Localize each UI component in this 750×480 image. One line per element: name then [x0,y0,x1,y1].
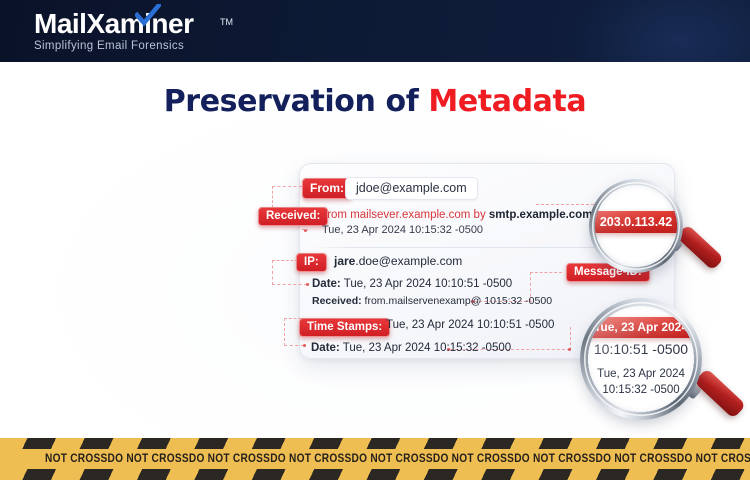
connector-timestamps-date [284,345,304,346]
tape-segment: NOT CROSS [45,453,108,465]
value-date-1: Tue, 23 Apr 2024 10:10:51 -0500 [344,278,512,290]
tag-received[interactable]: Received: [258,207,328,226]
connector-from-horizontal [272,186,302,187]
tag-time-stamps[interactable]: Time Stamps: [299,318,390,337]
tape-segment: DO NOT CROSS [352,453,433,465]
connector-ip-horizontal [272,260,298,261]
value-received-date: Tue, 23 Apr 2024 10:15:32 -0500 [322,224,483,236]
value-ip-email: jare.doe@example.com [334,254,462,268]
tape-text-row: NOT CROSSDO NOT CROSSDO NOT CROSSDO NOT … [45,438,705,480]
magnifier-ip-handle [676,224,724,271]
logo-trademark: TM [220,7,233,37]
tape-segment: DO NOT CROSS [189,453,270,465]
page-title-part1: Preservation of [164,84,429,119]
tape-segment: DO NOT CROSS [514,453,595,465]
brand-header: MailXaminer TM Simplifying Email Forensi… [0,0,750,62]
logo-text-mail: Mail [34,8,86,39]
tag-ip[interactable]: IP: [296,253,327,272]
connector-msgid-horizontal [530,272,562,273]
connector-timestamps-vertical [284,318,285,346]
ip-value-rest: .doe@example.com [355,254,462,268]
value-received-prefix: from mailsever.example.com by smtp.examp… [324,209,592,221]
logo-text-x: X [86,9,104,39]
caution-tape: NOT CROSSDO NOT CROSSDO NOT CROSSDO NOT … [0,438,750,480]
logo-tagline: Simplifying Email Forensics [34,40,193,52]
row-date-2: Date: Tue, 23 Apr 2024 10:15:32 -0500 [311,342,511,354]
page-title-part2: Metadata [428,84,586,119]
magnifier-ts-handle [694,368,746,419]
label-date-1: Date: [312,278,341,290]
tape-segment: DO NOT CROSS [596,453,677,465]
magnifier-ts-line2: Tue, 23 Apr 2024 [584,368,698,380]
connector-ip-date [272,284,307,285]
magnifier-ts-line1: 10:10:51 -0500 [584,341,698,357]
tape-segment: DO NOT CROSS [270,453,351,465]
value-from-email[interactable]: jdoe@example.com [345,177,478,200]
value-date-2: Tue, 23 Apr 2024 10:15:32 -0500 [343,342,511,354]
value-received-2: from.mailservenexamp@ 1015:32 -0500 [365,295,553,307]
row-received-2: Received: from.mailservenexamp@ 1015:32 … [312,295,552,307]
connector-received-sub [302,229,308,230]
received-prefix-text: from mailsever.example.com by [324,209,489,221]
row-date-1: Date: Tue, 23 Apr 2024 10:10:51 -0500 [312,278,512,290]
label-date-2: Date: [311,342,340,354]
tape-segment: DO NOT CROSS [108,453,189,465]
value-time-stamps: Tue, 23 Apr 2024 10:10:51 -0500 [386,319,554,331]
slide-root: MailXaminer TM Simplifying Email Forensi… [0,0,750,480]
label-received-2: Received: [312,295,362,307]
magnifier-ip[interactable]: 203.0.113.42 [592,182,742,272]
magnifier-ip-value: 203.0.113.42 [592,211,680,233]
magnifier-timestamps[interactable]: Tue, 23 Apr 2024 10:10:51 -0500 Tue, 23 … [584,302,750,427]
magnifier-ts-lens: Tue, 23 Apr 2024 10:10:51 -0500 Tue, 23 … [584,302,698,416]
magnifier-ts-band-value: Tue, 23 Apr 2024 [584,317,698,338]
magnifier-ip-lens: 203.0.113.42 [592,182,680,270]
logo-wordmark: MailXaminer TM [34,9,193,39]
magnifier-ts-line3: 10:15:32 -0500 [584,384,698,396]
received-smtp-host: smtp.example.com [489,209,593,221]
page-title: Preservation of Metadata [0,84,750,119]
mailxaminer-logo: MailXaminer TM Simplifying Email Forensi… [34,9,193,52]
ip-value-bold: jare [334,254,355,268]
connector-magnifier-vertical [570,327,571,350]
connector-ip-to-magnifier [536,204,594,205]
tape-segment: DO NOT CROSS [433,453,514,465]
tape-segment: DO NOT CROSS [677,453,750,465]
logo-text-aminer: aminer [105,8,194,39]
connector-ip-vertical [272,260,273,285]
